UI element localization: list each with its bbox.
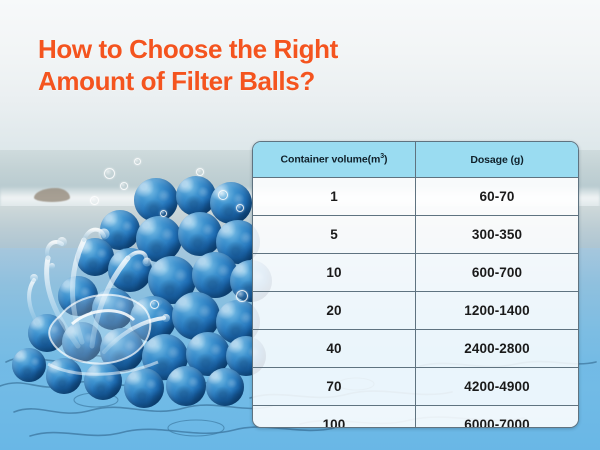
column-header-container-volume: Container volume(m3) [253,142,416,178]
filter-balls-pile [0,176,262,406]
table-row: 70 4200-4900 [253,368,578,406]
bubble-icon [90,196,99,205]
table-header: Container volume(m3) Dosage (g) [253,142,578,178]
dosage-table: Container volume(m3) Dosage (g) 1 60-70 … [252,141,579,428]
table-header-row: Container volume(m3) Dosage (g) [253,142,578,178]
dosage-table-element: Container volume(m3) Dosage (g) 1 60-70 … [253,142,578,428]
filter-ball [62,322,102,362]
bubble-icon [236,290,248,302]
table-row: 20 1200-1400 [253,292,578,330]
filter-ball [46,358,82,394]
filter-ball [178,212,222,256]
filter-ball [210,182,252,224]
filter-ball [28,314,66,352]
filter-ball [124,368,164,408]
cell-volume: 40 [253,330,416,368]
cell-volume: 10 [253,254,416,292]
bubble-icon [134,158,141,165]
bubble-icon [150,300,159,309]
page-title-line-1: How to Choose the Right [38,34,438,66]
filter-ball [206,368,244,406]
cell-volume: 1 [253,178,416,216]
bubble-icon [160,210,167,217]
filter-ball [92,288,134,330]
cell-dosage: 4200-4900 [416,368,579,406]
bubble-icon [196,168,204,176]
cell-volume: 5 [253,216,416,254]
filter-ball [12,348,46,382]
page-title: How to Choose the Right Amount of Filter… [38,34,438,98]
filter-ball [166,366,206,406]
cell-dosage: 6000-7000 [416,406,579,429]
cell-dosage: 1200-1400 [416,292,579,330]
table-row: 5 300-350 [253,216,578,254]
table-body: 1 60-70 5 300-350 10 600-700 20 1200-140… [253,178,578,429]
bubble-icon [104,168,115,179]
filter-ball [108,248,152,292]
cell-dosage: 2400-2800 [416,330,579,368]
bubble-icon [236,204,244,212]
filter-ball [84,362,122,400]
cell-volume: 100 [253,406,416,429]
column-header-container-volume-tail: ) [384,154,387,166]
table-row: 10 600-700 [253,254,578,292]
cell-volume: 20 [253,292,416,330]
table-row: 100 6000-7000 [253,406,578,429]
table-row: 1 60-70 [253,178,578,216]
page-title-line-2: Amount of Filter Balls? [38,66,438,98]
infographic-canvas: How to Choose the Right Amount of Filter… [0,0,600,450]
bubble-icon [218,190,228,200]
column-header-container-volume-text: Container volume(m [281,154,381,166]
cell-volume: 70 [253,368,416,406]
table-row: 40 2400-2800 [253,330,578,368]
bubble-icon [120,182,128,190]
column-header-dosage: Dosage (g) [416,142,579,178]
cell-dosage: 300-350 [416,216,579,254]
cell-dosage: 600-700 [416,254,579,292]
cell-dosage: 60-70 [416,178,579,216]
